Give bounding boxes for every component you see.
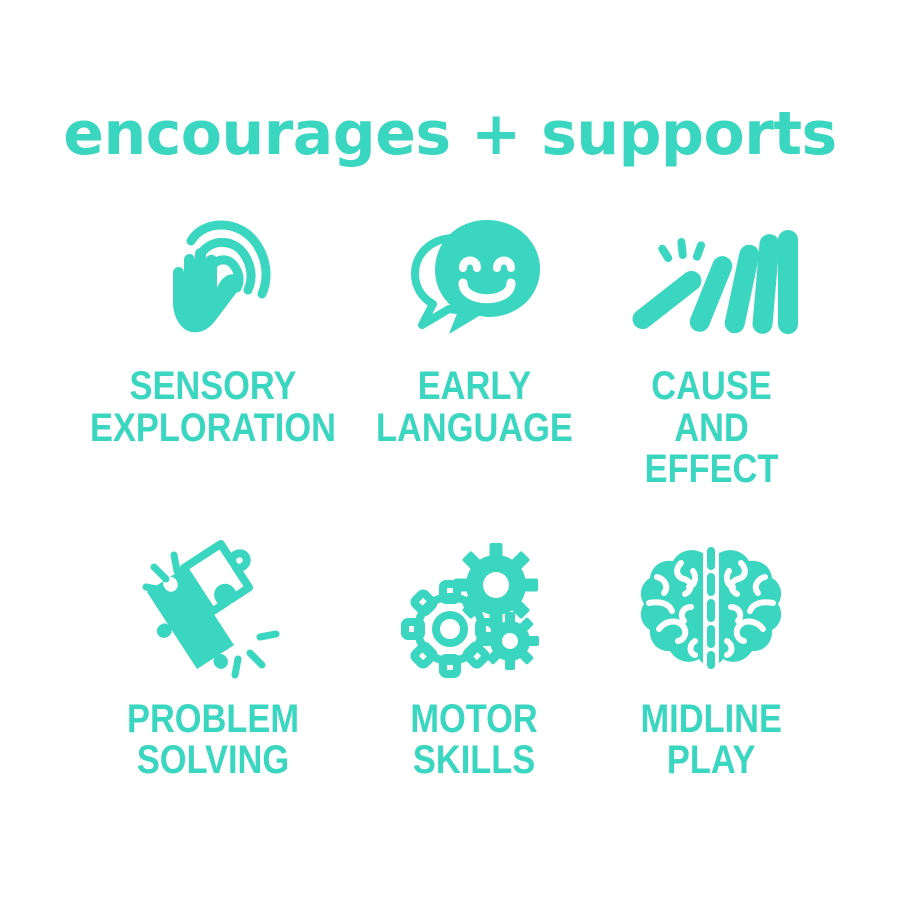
benefit-label: CAUSE AND EFFECT [610,366,814,491]
hand-waves-icon [133,206,293,346]
speech-bubbles-smiley-icon [394,206,554,346]
falling-dominoes-icon [631,206,791,346]
benefit-item-problem-solving: PROBLEM SOLVING [70,539,356,782]
puzzle-pieces-icon [133,539,293,679]
benefit-item-motor-skills: MOTOR SKILLS [356,539,593,782]
benefit-label: SENSORY EXPLORATION [90,366,336,449]
infographic-panel: encourages + supports SENSORY EXPLORATIO… [0,0,900,900]
gears-icon [394,539,554,679]
benefit-item-cause-and-effect: CAUSE AND EFFECT [593,206,830,491]
benefit-label: EARLY LANGUAGE [376,366,573,449]
benefit-label: MOTOR SKILLS [411,699,538,782]
benefit-item-midline-play: MIDLINE PLAY [593,539,830,782]
benefit-item-sensory-exploration: SENSORY EXPLORATION [70,206,356,491]
brain-icon [631,539,791,679]
benefit-label: PROBLEM SOLVING [127,699,299,782]
page-title: encourages + supports [63,104,836,164]
benefits-grid: SENSORY EXPLORATION EARLY LANGUAGE [70,206,830,782]
benefit-item-early-language: EARLY LANGUAGE [356,206,593,491]
benefit-label: MIDLINE PLAY [641,699,782,782]
